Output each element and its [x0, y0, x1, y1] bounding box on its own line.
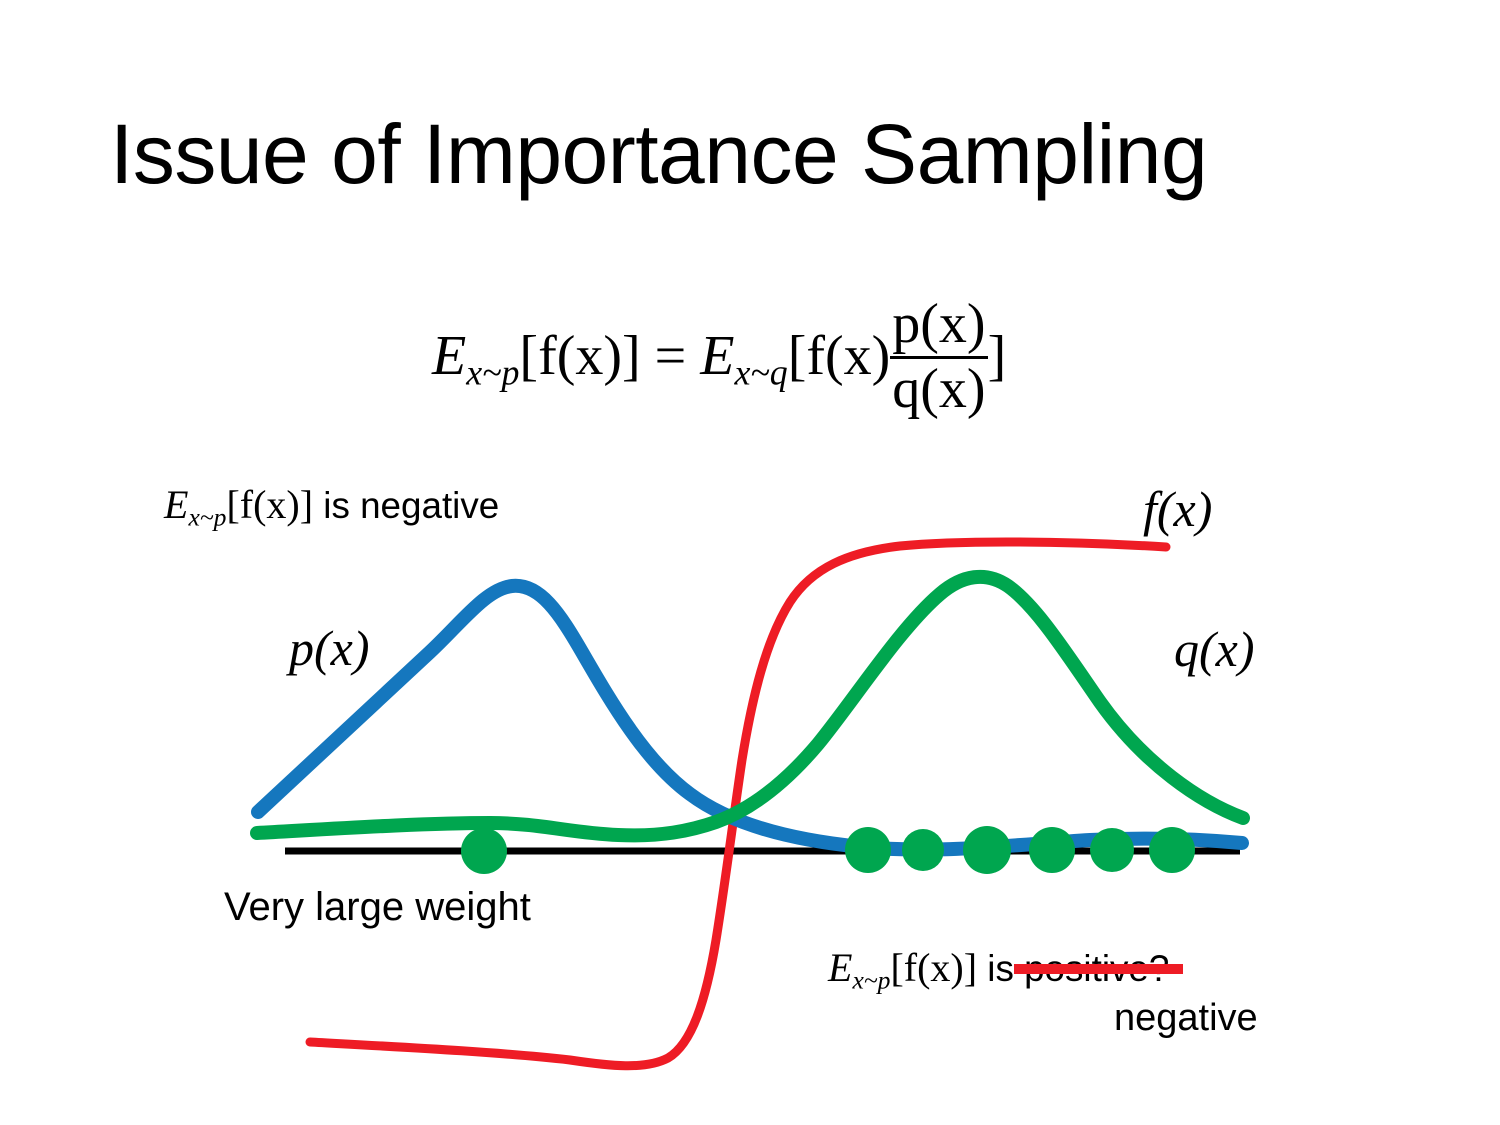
curve-label-q: q(x): [1174, 620, 1255, 678]
very-large-weight-label: Very large weight: [224, 885, 531, 930]
sample-dot: [461, 828, 507, 874]
equation-lhs-body: [f(x)]: [519, 325, 640, 387]
equation-equals: =: [641, 325, 701, 387]
annot-left-tail: is negative: [313, 485, 499, 526]
fraction-numerator: p(x): [890, 296, 987, 353]
equation-rhs-open: [f(x): [788, 325, 891, 387]
annot-left-E: E: [164, 482, 188, 527]
equation-rhs-E: E: [700, 325, 734, 387]
sample-dot-group: [461, 826, 1195, 874]
sample-dot: [963, 826, 1011, 874]
sample-dot: [1090, 828, 1134, 872]
annot-right-subscript: x~p: [852, 966, 890, 995]
annot-right-correction: negative: [1114, 997, 1258, 1040]
p-curve: [258, 586, 1242, 850]
main-equation: Ex~p[f(x)]=Ex~q[f(x)p(x)q(x)]: [432, 300, 1006, 422]
fraction-denominator: q(x): [890, 361, 987, 418]
annotation-right-positive-struck: Ex~p[f(x)] is positive?: [828, 944, 1169, 996]
equation-lhs-E: E: [432, 325, 466, 387]
page-title: Issue of Importance Sampling: [110, 112, 1410, 198]
curve-label-f: f(x): [1143, 480, 1212, 538]
annot-right-struck-word: positive?: [1024, 948, 1169, 990]
sample-dot: [1029, 827, 1075, 873]
annot-left-subscript: x~p: [188, 503, 226, 532]
curve-label-p: p(x): [289, 619, 370, 677]
sample-dot: [1149, 827, 1195, 873]
annot-right-body: [f(x)]: [890, 945, 977, 990]
annotation-left-negative: Ex~p[f(x)] is negative: [164, 481, 499, 533]
slide-canvas: Issue of Importance Sampling Ex~p[f(x)]=…: [0, 0, 1500, 1125]
equation-fraction: p(x)q(x): [890, 296, 987, 418]
equation-lhs-subscript: x~p: [466, 353, 519, 393]
sample-dot: [845, 827, 891, 873]
annot-left-body: [f(x)]: [226, 482, 313, 527]
sample-dot: [902, 829, 944, 871]
q-curve: [257, 577, 1243, 836]
equation-rhs-close: ]: [988, 325, 1007, 387]
annot-right-E: E: [828, 945, 852, 990]
equation-rhs-subscript: x~q: [734, 353, 787, 393]
